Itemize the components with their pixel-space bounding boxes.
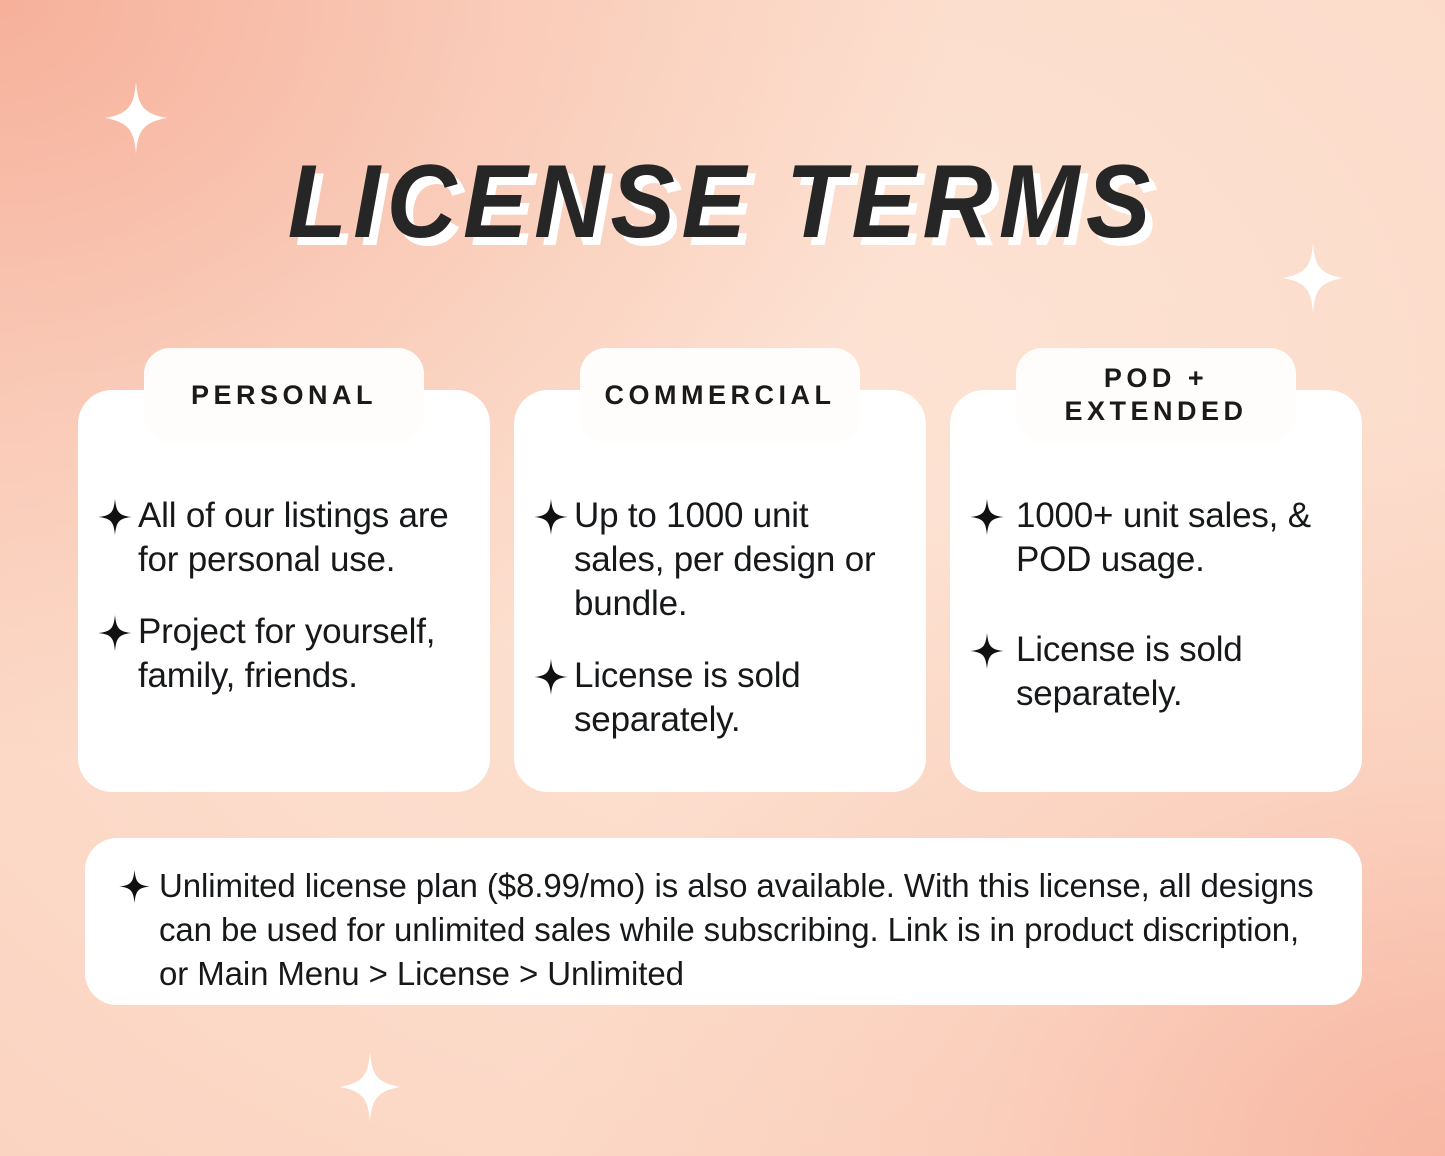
four-point-star-icon [534,499,568,535]
list-item-text: License is sold separately. [574,654,908,742]
four-point-star-icon [98,615,132,651]
card-body-personal: All of our listings are for personal use… [78,494,490,778]
license-card-pod-extended: POD + EXTENDED 1000+ unit sales, & POD u… [950,390,1362,792]
list-item-text: All of our listings are for personal use… [138,494,472,582]
four-point-star-icon [119,870,150,903]
card-badge-pod-extended: POD + EXTENDED [1016,348,1296,442]
list-item-text: 1000+ unit sales, & POD usage. [1016,494,1344,582]
license-card-commercial: COMMERCIAL Up to 1000 unit sales, per de… [514,390,926,792]
four-point-star-icon [98,499,132,535]
four-point-star-icon [970,499,1004,535]
list-item: License is sold separately. [970,628,1344,716]
list-item-text: Up to 1000 unit sales, per design or bun… [574,494,908,626]
card-badge-commercial: COMMERCIAL [580,348,860,442]
card-badge-label: PERSONAL [191,379,377,412]
banner-text: Unlimited license plan ($8.99/mo) is als… [159,864,1332,996]
list-item: All of our listings are for personal use… [98,494,472,582]
four-point-star-icon [970,633,1004,669]
card-body-commercial: Up to 1000 unit sales, per design or bun… [514,494,926,778]
unlimited-plan-banner: Unlimited license plan ($8.99/mo) is als… [85,838,1362,1005]
license-card-personal: PERSONAL All of our listings are for per… [78,390,490,792]
list-item: Project for yourself, family, friends. [98,610,472,698]
list-item: License is sold separately. [534,654,908,742]
list-item: Unlimited license plan ($8.99/mo) is als… [85,838,1362,996]
card-badge-label: COMMERCIAL [605,379,836,412]
page-title-wrap: LICENSE TERMS [0,150,1445,254]
sparkle-top-left-icon [105,82,167,154]
card-body-pod-extended: 1000+ unit sales, & POD usage. License i… [950,494,1362,778]
license-terms-poster: LICENSE TERMS PERSONAL All of our listin… [0,0,1445,1156]
list-item-text: Project for yourself, family, friends. [138,610,472,698]
card-badge-personal: PERSONAL [144,348,424,442]
list-item: 1000+ unit sales, & POD usage. [970,494,1344,582]
sparkle-bottom-icon [339,1052,401,1122]
license-tier-cards: PERSONAL All of our listings are for per… [78,390,1362,792]
sparkle-right-icon [1283,243,1343,313]
list-item: Up to 1000 unit sales, per design or bun… [534,494,908,626]
list-item-text: License is sold separately. [1016,628,1344,716]
four-point-star-icon [534,659,568,695]
page-title: LICENSE TERMS [288,150,1157,254]
card-badge-label: POD + EXTENDED [1064,362,1247,428]
